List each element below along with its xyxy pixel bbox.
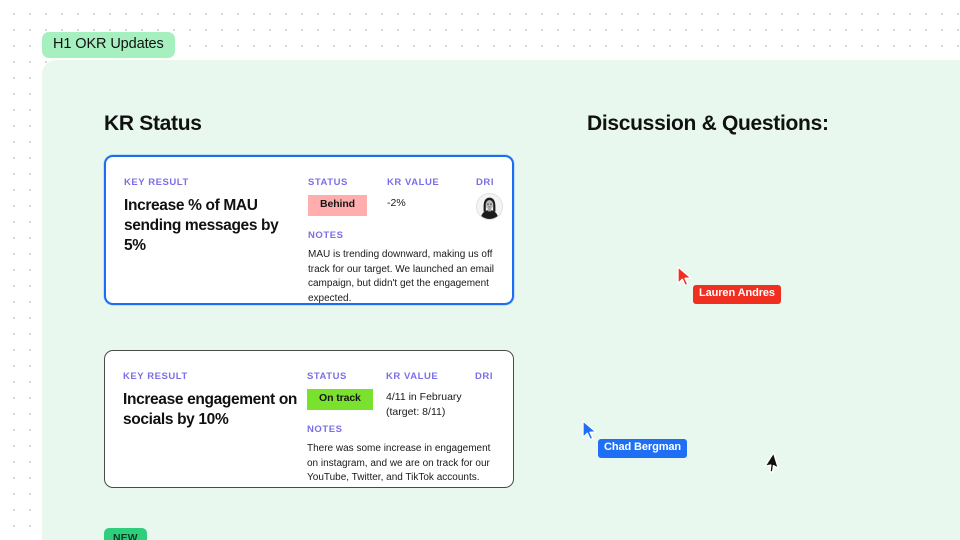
notes-label: NOTES: [307, 424, 497, 435]
kr-dri-column: DRI: [475, 371, 493, 382]
status-label: STATUS: [308, 177, 367, 188]
kr-title: Increase engagement on socials by 10%: [123, 390, 303, 430]
kr-notes-column: NOTES There was some increase in engagem…: [307, 424, 497, 486]
cursor-name-label: Lauren Andres: [693, 285, 781, 304]
kr-value-text: 4/11 in February (target: 8/11): [386, 390, 466, 420]
kr-title: Increase % of MAU sending messages by 5%: [124, 196, 304, 255]
key-result-label: KEY RESULT: [123, 371, 303, 382]
avatar[interactable]: [476, 193, 503, 220]
kr-status-column: STATUS On track: [307, 371, 373, 410]
discussion-questions-heading: Discussion & Questions:: [587, 112, 829, 136]
kr-notes-column: NOTES MAU is trending downward, making u…: [308, 230, 498, 306]
status-badge[interactable]: Behind: [308, 195, 367, 216]
kr-key-result-column: KEY RESULT Increase % of MAU sending mes…: [124, 177, 304, 255]
notes-text: MAU is trending downward, making us off …: [308, 248, 498, 306]
person-avatar-icon: [477, 194, 502, 219]
cursor-arrow-icon: [676, 266, 694, 288]
kr-dri-column: DRI: [476, 177, 503, 220]
dri-label: DRI: [475, 371, 493, 382]
kr-value-column: KR VALUE -2%: [387, 177, 467, 211]
kr-status-heading: KR Status: [104, 112, 202, 136]
frame-label-h1-okr-updates[interactable]: H1 OKR Updates: [42, 32, 175, 58]
status-badge[interactable]: On track: [307, 389, 373, 410]
kr-value-text: -2%: [387, 196, 467, 211]
dri-label: DRI: [476, 177, 503, 188]
kr-card[interactable]: KEY RESULT Increase engagement on social…: [104, 350, 514, 488]
kr-value-label: KR VALUE: [387, 177, 467, 188]
notes-text: There was some increase in engagement on…: [307, 442, 497, 486]
notes-label: NOTES: [308, 230, 498, 241]
cursor-name-label: Chad Bergman: [598, 439, 687, 458]
board-frame[interactable]: KR Status Discussion & Questions: KEY RE…: [42, 60, 960, 540]
kr-status-column: STATUS Behind: [308, 177, 367, 216]
status-label: STATUS: [307, 371, 373, 382]
kr-card[interactable]: KEY RESULT Increase % of MAU sending mes…: [104, 155, 514, 305]
cursor-arrow-icon: [581, 420, 599, 442]
key-result-label: KEY RESULT: [124, 177, 304, 188]
mouse-pointer-icon: [763, 452, 783, 474]
kr-value-label: KR VALUE: [386, 371, 466, 382]
kr-key-result-column: KEY RESULT Increase engagement on social…: [123, 371, 303, 430]
cut-off-tag-pill[interactable]: NEW: [104, 528, 147, 540]
kr-value-column: KR VALUE 4/11 in February (target: 8/11): [386, 371, 466, 420]
